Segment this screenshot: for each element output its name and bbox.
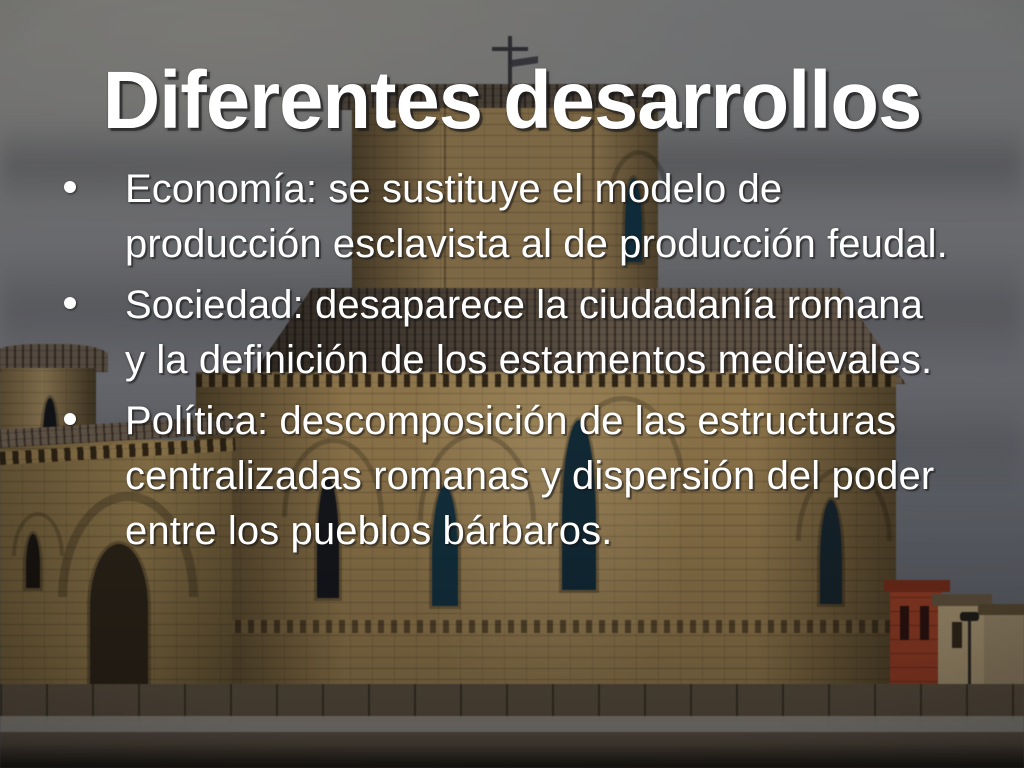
- bullet-text: Sociedad: desaparece la ciudadanía roman…: [125, 278, 952, 388]
- presentation-slide: Diferentes desarrollos Economía: se sust…: [0, 0, 1024, 768]
- slide-title: Diferentes desarrollos: [15, 58, 1008, 144]
- bullet-item: Economía: se sustituye el modelo de prod…: [52, 162, 952, 272]
- bullet-dot-icon: [64, 297, 76, 309]
- bullet-dot-icon: [64, 181, 76, 193]
- bullet-item: Sociedad: desaparece la ciudadanía roman…: [52, 278, 952, 388]
- bullet-dot-icon: [64, 413, 76, 425]
- bullet-text: Política: descomposición de las estructu…: [125, 394, 952, 559]
- slide-body-text: Economía: se sustituye el modelo de prod…: [52, 162, 952, 678]
- bullet-text: Economía: se sustituye el modelo de prod…: [125, 162, 952, 272]
- bullet-item: Política: descomposición de las estructu…: [52, 394, 952, 559]
